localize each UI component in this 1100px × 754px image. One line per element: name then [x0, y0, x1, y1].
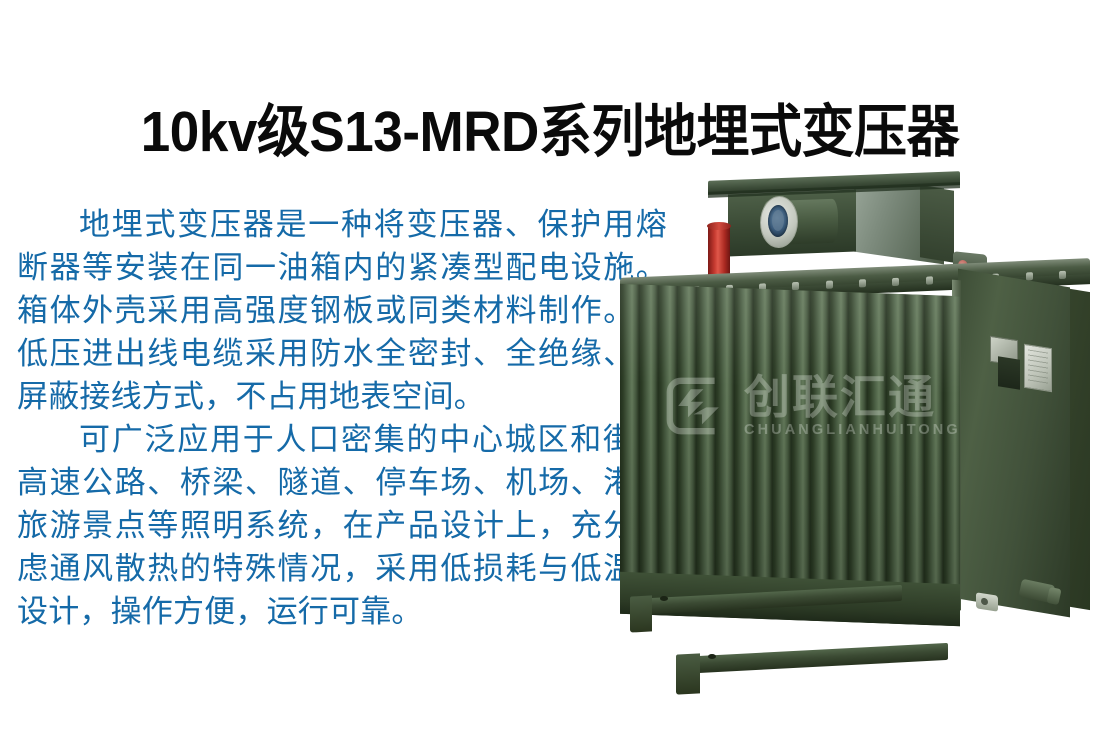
base-skid-rear: [678, 643, 948, 674]
description-text: 地埋式变压器是一种将变压器、保护用熔断器等安装在同一油箱内的紧凑型配电设施。箱体…: [17, 203, 667, 633]
tank-front-panel: [620, 284, 960, 626]
base-skid-front-end: [630, 595, 652, 632]
nameplate: [1024, 344, 1052, 392]
lid-bolt: [826, 281, 833, 289]
base-skid-hole: [660, 596, 668, 601]
red-bushing-cap: [707, 222, 731, 230]
lid-bolt: [892, 278, 899, 286]
lid-bolt: [792, 282, 799, 290]
lid-bolt: [859, 279, 866, 287]
lid-bolt: [926, 276, 933, 284]
base-skid-rear-end: [676, 653, 700, 694]
tank-side-panel: [958, 269, 1070, 618]
product-banner: 10kv级S13-MRD系列地埋式变压器 地埋式变压器是一种将变压器、保护用熔断…: [0, 0, 1100, 754]
lid-bolt: [1059, 271, 1066, 279]
side-junction-bracket: [998, 356, 1020, 389]
base-skid-hole: [708, 654, 716, 659]
product-photo: [620, 160, 1100, 720]
top-enclosure-rear-panel: [920, 185, 954, 262]
nameplate-text-lines: [1028, 349, 1048, 386]
paragraph-applications: 可广泛应用于人口密集的中心城区和街道高速公路、桥梁、隧道、停车场、机场、港口旅游…: [17, 418, 667, 633]
ground-terminal-hole: [981, 597, 988, 605]
red-bushing: [708, 225, 730, 279]
paragraph-intro: 地埋式变压器是一种将变压器、保护用熔断器等安装在同一油箱内的紧凑型配电设施。箱体…: [17, 203, 667, 418]
page-title: 10kv级S13-MRD系列地埋式变压器: [39, 96, 1062, 168]
